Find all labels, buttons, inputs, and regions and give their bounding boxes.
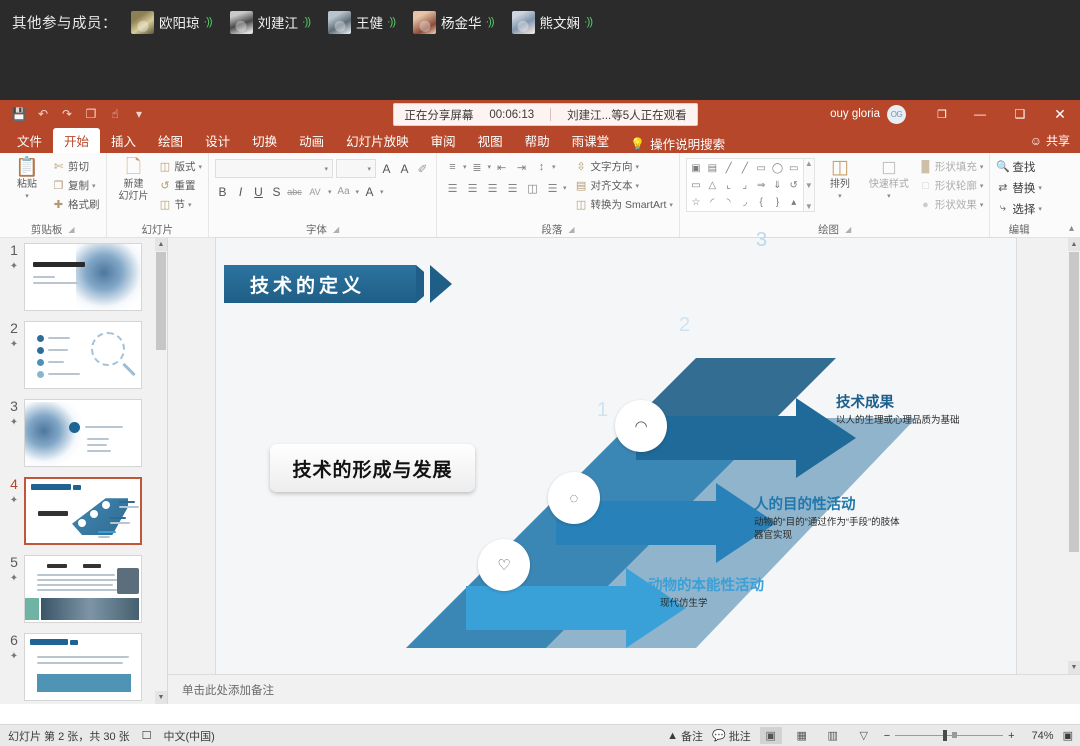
replace-button[interactable]: ⇄ 替换 ▾ xyxy=(996,179,1042,196)
copy-button[interactable]: ❐ 复制 ▾ xyxy=(52,177,100,194)
target-icon-circle[interactable]: ◌ xyxy=(548,472,600,524)
tab-home[interactable]: 开始 xyxy=(53,128,100,153)
character-spacing-button[interactable]: AV xyxy=(305,187,325,197)
thumbnail-slide-1[interactable]: 1 ✦ xyxy=(0,238,167,316)
thumb-text-line xyxy=(87,450,111,452)
window-title-bar: 💾 ↶ ↷ ❐ ☝ ▾ 正在分享屏幕 00:06:13 刘建江...等5人正在观… xyxy=(0,100,1080,128)
center-text-box[interactable]: 技术的形成与发展 xyxy=(270,444,475,492)
chevron-down-icon: ▾ xyxy=(325,165,329,173)
align-center-button[interactable]: ☰ xyxy=(463,179,482,197)
scroll-down-icon[interactable]: ▼ xyxy=(805,181,813,190)
cursor-icon: ⤷ xyxy=(996,202,1009,215)
chevron-down-icon: ▾ xyxy=(980,163,984,171)
arrange-icon: ◫ xyxy=(831,158,849,178)
copy-icon: ❐ xyxy=(52,179,65,192)
thumb-text-line xyxy=(83,564,101,568)
clear-formatting-button[interactable]: ✐ xyxy=(415,162,430,176)
shape-effects-button[interactable]: ● 形状效果 ▾ xyxy=(919,196,984,213)
shape-item[interactable]: ↺ xyxy=(786,177,802,194)
zoom-out-button[interactable]: − xyxy=(884,730,890,742)
tell-me-label: 操作说明搜索 xyxy=(650,134,725,153)
italic-button[interactable]: I xyxy=(233,185,248,199)
bullets-button[interactable]: ≡ xyxy=(443,158,462,176)
step-label-2[interactable]: 人的目的性活动 动物的“目的”通过作为“手段”的肢体 器官实现 xyxy=(754,493,900,542)
bold-button[interactable]: B xyxy=(215,185,230,199)
participant-name: 杨金华 xyxy=(441,12,482,32)
minimize-button[interactable]: — xyxy=(960,100,1000,128)
shape-item[interactable]: ◝ xyxy=(720,194,736,211)
animation-star-icon: ✦ xyxy=(4,571,24,586)
replace-icon: ⇄ xyxy=(996,181,1009,194)
chevron-down-icon: ▾ xyxy=(1038,205,1042,213)
scissors-icon: ✄ xyxy=(52,160,65,173)
thumbnail-scrollbar[interactable]: ▲ ▼ xyxy=(155,238,167,704)
step-number-3: 3 xyxy=(756,229,767,252)
format-painter-button[interactable]: ✚ 格式刷 xyxy=(52,196,100,213)
chevron-down-icon: ▾ xyxy=(636,163,640,171)
tab-file[interactable]: 文件 xyxy=(6,128,53,153)
shape-item[interactable]: ◯ xyxy=(769,160,785,177)
font-color-button[interactable]: A xyxy=(362,185,377,199)
thumbnail-index: 4 xyxy=(10,476,18,492)
avatar xyxy=(512,11,535,34)
participant-name: 刘建江 xyxy=(258,12,299,32)
numbering-button[interactable]: ≣ xyxy=(468,158,487,176)
step-subtitle-2-line1: 动物的“目的”通过作为“手段”的肢体 xyxy=(754,516,900,529)
columns-button[interactable]: ◫ xyxy=(523,179,542,197)
thumbnail-slide-2[interactable]: 2 ✦ xyxy=(0,316,167,394)
group-title-slides: 幻灯片 xyxy=(142,222,174,237)
select-button[interactable]: ⤷ 选择 ▾ xyxy=(996,200,1042,217)
step-title-2: 人的目的性活动 xyxy=(754,493,900,514)
slideshow-view-button[interactable]: ▽ xyxy=(853,727,875,744)
ribbon-group-font: ▾ ▾ A A ✐ B I U S abc AV xyxy=(208,153,436,237)
arrange-label: 排列 xyxy=(830,179,850,190)
group-title-clipboard: 剪贴板 xyxy=(31,222,63,237)
meeting-participants-bar: 其他参与成员： 欧阳琼 ·)) 刘建江 ·)) 王健 ·)) 杨金华 ·)) 熊… xyxy=(0,0,1080,100)
share-button[interactable]: ☺ 共享 xyxy=(1030,132,1070,149)
layout-icon: ◫ xyxy=(159,160,172,173)
underline-button[interactable]: U xyxy=(251,185,266,199)
section-label: 节 xyxy=(175,197,186,212)
chevron-down-icon: ▾ xyxy=(980,201,984,209)
workspace: 1 ✦ 2 ✦ xyxy=(0,238,1080,704)
tab-review[interactable]: 审阅 xyxy=(420,128,467,153)
ribbon-tab-bar: 文件 开始 插入 绘图 设计 切换 动画 幻灯片放映 审阅 视图 帮助 雨课堂 … xyxy=(0,128,1080,153)
thumbnail-slide-5[interactable]: 5 ✦ xyxy=(0,550,167,628)
shape-outline-icon: □ xyxy=(919,180,932,192)
thumbnail-number: 1 ✦ xyxy=(4,243,24,274)
participant-item[interactable]: 熊文娴 ·)) xyxy=(512,11,593,34)
zoom-level-label[interactable]: 74% xyxy=(1024,730,1054,742)
thumbnail-index: 6 xyxy=(10,632,18,648)
zoom-slider[interactable]: − + xyxy=(884,730,1015,742)
shapes-gallery-scrollbar[interactable]: ▲ ▼ ▼ xyxy=(804,158,815,212)
participant-name: 熊文娴 xyxy=(540,12,581,32)
justify-button[interactable]: ☰ xyxy=(503,179,522,197)
user-name[interactable]: ouy gloria xyxy=(830,108,880,120)
comments-label: 批注 xyxy=(729,728,751,744)
fit-slide-to-window-icon[interactable]: ▣ xyxy=(1063,729,1073,742)
change-case-button[interactable]: Aa xyxy=(335,186,353,197)
thumb-text-line xyxy=(48,337,70,339)
shape-item[interactable]: ⇒ xyxy=(753,177,769,194)
arrange-button[interactable]: ◫ 排列 ▾ xyxy=(819,158,861,202)
chevron-down-icon: ▾ xyxy=(356,188,360,196)
accessibility-check-icon[interactable]: ☐ xyxy=(142,729,152,742)
thumb-photo-strip xyxy=(41,598,139,620)
scroll-up-icon[interactable]: ▲ xyxy=(155,238,167,251)
zoom-track[interactable] xyxy=(895,735,1003,736)
new-slide-button[interactable]: 🗋 新建 幻灯片 xyxy=(113,158,155,202)
shape-outline-label: 形状轮廓 xyxy=(935,178,977,193)
shape-item[interactable]: ◞ xyxy=(737,194,753,211)
shape-effects-icon: ● xyxy=(919,199,932,211)
step-number-2: 2 xyxy=(679,314,690,337)
animation-star-icon: ✦ xyxy=(4,337,24,352)
paste-icon: 📋 xyxy=(15,158,39,178)
thumb-text-line xyxy=(87,438,109,440)
thumb-photo xyxy=(117,568,139,594)
group-title-font: 字体 xyxy=(306,222,327,237)
thumbnail-number: 6 ✦ xyxy=(4,633,24,664)
tab-view[interactable]: 视图 xyxy=(467,128,514,153)
chevron-down-icon: ▾ xyxy=(188,201,192,209)
slide-sorter-view-button[interactable]: ▦ xyxy=(791,727,813,744)
shape-item[interactable]: ▭ xyxy=(688,177,704,194)
scroll-up-icon[interactable]: ▲ xyxy=(805,159,813,168)
increase-indent-button[interactable]: ⇥ xyxy=(512,158,531,176)
avatar xyxy=(131,11,154,34)
grow-font-button[interactable]: A xyxy=(379,162,394,176)
share-status-text: 正在分享屏幕 xyxy=(404,107,473,123)
thumbnail-slide-4[interactable]: 4 ✦ xyxy=(0,472,167,550)
audio-wave-icon: ·)) xyxy=(302,17,310,28)
decorative-splash xyxy=(76,243,142,311)
cloud-icon: ◠ xyxy=(634,417,647,435)
ribbon-home: 📋 粘贴 ▾ ✄ 剪切 ❐ 复制 ▾ ✚ 格 xyxy=(0,153,1080,238)
chevron-down-icon: ▾ xyxy=(1038,184,1042,192)
tab-animations[interactable]: 动画 xyxy=(288,128,335,153)
scroll-down-icon[interactable]: ▼ xyxy=(155,691,167,704)
slide-canvas[interactable]: 技术的定义 xyxy=(216,238,1016,688)
replace-label: 替换 xyxy=(1012,180,1035,196)
shape-item[interactable]: ╱ xyxy=(720,160,736,177)
tab-transitions[interactable]: 切换 xyxy=(241,128,288,153)
quick-styles-button[interactable]: ◻ 快速样式 ▾ xyxy=(865,158,913,202)
shape-item[interactable]: ◜ xyxy=(704,194,720,211)
thumbnail-number: 3 ✦ xyxy=(4,399,24,430)
shapes-gallery[interactable]: ▣ ▤ ╱ ╱ ▭ ◯ ▭ ▭ △ ⌞ ⌟ ⇒ ⇓ ↺ ☆ xyxy=(686,158,804,212)
ribbon-display-options-icon[interactable]: ❐ xyxy=(924,100,960,128)
heart-icon-circle[interactable]: ♡ xyxy=(478,539,530,591)
thumb-title-banner xyxy=(31,484,71,490)
font-size-input[interactable]: ▾ xyxy=(336,159,376,178)
thumbnail-slide-3[interactable]: 3 ✦ xyxy=(0,394,167,472)
dialog-launcher-icon[interactable]: ◢ xyxy=(568,225,574,234)
thumbnail-index: 1 xyxy=(10,242,18,258)
chevron-down-icon: ▾ xyxy=(887,191,891,202)
participant-item[interactable]: 刘建江 ·)) xyxy=(230,11,311,34)
comment-bubble-icon: 💬 xyxy=(712,729,726,742)
save-button[interactable]: 💾 xyxy=(8,104,30,124)
comments-button[interactable]: 💬 批注 xyxy=(712,728,751,744)
group-title-paragraph: 段落 xyxy=(541,222,562,237)
paste-button[interactable]: 📋 粘贴 ▾ xyxy=(6,158,48,202)
chevron-down-icon: ▾ xyxy=(669,201,673,209)
group-title-editing: 编辑 xyxy=(1009,222,1030,237)
step-label-3[interactable]: 技术成果 以人的生理或心理品质为基础 xyxy=(836,391,960,427)
shape-item[interactable]: ▤ xyxy=(704,160,720,177)
paste-label: 粘贴 xyxy=(17,179,37,190)
chevron-down-icon: ▾ xyxy=(980,182,984,190)
audio-wave-icon: ·)) xyxy=(584,17,592,28)
thumbnail-preview[interactable] xyxy=(24,633,142,701)
section-button[interactable]: ◫ 节 ▾ xyxy=(159,196,203,213)
zoom-knob[interactable] xyxy=(943,730,947,741)
thumb-bullet xyxy=(37,347,44,354)
find-label: 查找 xyxy=(1012,159,1035,175)
shape-effects-label: 形状效果 xyxy=(935,197,977,212)
chevron-down-icon: ▾ xyxy=(328,188,332,196)
font-name-input[interactable]: ▾ xyxy=(215,159,333,178)
collapse-ribbon-icon[interactable]: ▴ xyxy=(1069,223,1074,234)
divider xyxy=(550,108,551,121)
layout-button[interactable]: ◫ 版式 ▾ xyxy=(159,158,203,175)
thumbnail-index: 3 xyxy=(10,398,18,414)
shape-item[interactable]: ⌟ xyxy=(737,177,753,194)
screen-share-banner[interactable]: 正在分享屏幕 00:06:13 刘建江...等5人正在观看 xyxy=(393,103,698,126)
thumb-text-line xyxy=(33,282,79,284)
thumb-circle-diagram xyxy=(91,332,125,366)
slide-count-label[interactable]: 幻灯片 第 2 张，共 30 张 xyxy=(8,728,130,744)
step-title-1: 动物的本能性活动 xyxy=(648,574,764,595)
convert-to-smartart-button[interactable]: ◫ 转换为 SmartArt ▾ xyxy=(575,196,673,213)
text-alignment-button[interactable]: ☰ xyxy=(543,179,562,197)
dialog-launcher-icon[interactable]: ◢ xyxy=(68,225,74,234)
chevron-down-icon: ▾ xyxy=(463,163,467,171)
step-title-3: 技术成果 xyxy=(836,391,960,412)
thumb-bullet xyxy=(69,422,80,433)
close-button[interactable]: ✕ xyxy=(1040,100,1080,128)
zoom-in-button[interactable]: + xyxy=(1008,730,1014,742)
thumb-text-line xyxy=(98,536,110,538)
shape-item[interactable]: ⇓ xyxy=(769,177,785,194)
notes-pane[interactable]: 单击此处添加备注 xyxy=(168,674,1080,704)
tab-help[interactable]: 帮助 xyxy=(514,128,561,153)
thumbnail-preview-selected[interactable] xyxy=(24,477,142,545)
tab-rain-classroom[interactable]: 雨课堂 xyxy=(561,128,621,153)
thumb-title-banner xyxy=(30,639,68,645)
slide-editor-pane[interactable]: 技术的定义 xyxy=(168,238,1080,704)
chevron-down-icon: ▾ xyxy=(92,182,96,190)
chevron-down-icon: ▾ xyxy=(25,191,29,202)
share-label: 共享 xyxy=(1046,132,1070,149)
dialog-launcher-icon[interactable]: ◢ xyxy=(333,225,339,234)
ribbon-group-editing: 🔍 查找 ⇄ 替换 ▾ ⤷ 选择 ▾ 编辑 xyxy=(989,153,1048,237)
animation-star-icon: ✦ xyxy=(4,493,24,508)
section-icon: ◫ xyxy=(159,198,172,211)
participant-item[interactable]: 杨金华 ·)) xyxy=(413,11,494,34)
shape-outline-button[interactable]: □ 形状轮廓 ▾ xyxy=(919,177,984,194)
chevron-down-icon: ▾ xyxy=(552,163,556,171)
align-left-button[interactable]: ☰ xyxy=(443,179,462,197)
animation-star-icon: ✦ xyxy=(4,259,24,274)
step-subtitle-2-line2: 器官实现 xyxy=(754,529,900,542)
participants-label: 其他参与成员： xyxy=(12,12,117,33)
notes-placeholder: 单击此处添加备注 xyxy=(182,682,274,698)
thumbnail-preview[interactable] xyxy=(24,399,142,467)
ribbon-group-clipboard: 📋 粘贴 ▾ ✄ 剪切 ❐ 复制 ▾ ✚ 格 xyxy=(0,153,106,237)
thumb-accent-block xyxy=(25,598,39,620)
start-slideshow-button[interactable]: ❐ xyxy=(80,104,102,124)
thumb-text-line xyxy=(48,349,68,351)
chevron-down-icon: ▾ xyxy=(368,165,372,173)
zoom-midpoint xyxy=(952,732,957,738)
chevron-down-icon: ▾ xyxy=(199,163,203,171)
scrollbar-thumb[interactable] xyxy=(156,252,166,350)
step-label-1[interactable]: 动物的本能性活动 现代仿生学 xyxy=(648,574,764,610)
reset-button[interactable]: ↺ 重置 xyxy=(159,177,203,194)
copy-label: 复制 xyxy=(68,178,89,193)
quick-styles-label: 快速样式 xyxy=(869,179,909,190)
thumbnail-preview[interactable] xyxy=(24,243,142,311)
shape-item[interactable]: ▴ xyxy=(786,194,802,211)
normal-view-button[interactable]: ▣ xyxy=(760,727,782,744)
thumb-text-line xyxy=(119,506,139,508)
thumbnail-preview[interactable] xyxy=(24,555,142,623)
thumbnail-index: 5 xyxy=(10,554,18,570)
status-bar: 幻灯片 第 2 张，共 30 张 ☐ 中文(中国) ▲ 备注 💬 批注 ▣ ▦ … xyxy=(0,724,1080,746)
shape-item[interactable]: ▭ xyxy=(786,160,802,177)
avatar xyxy=(328,11,351,34)
find-button[interactable]: 🔍 查找 xyxy=(996,158,1042,175)
tab-draw[interactable]: 绘图 xyxy=(147,128,194,153)
thumb-text-line xyxy=(37,574,115,576)
language-label[interactable]: 中文(中国) xyxy=(164,728,215,744)
step-number-1: 1 xyxy=(597,399,608,422)
group-title-drawing: 绘图 xyxy=(818,222,839,237)
redo-button[interactable]: ↷ xyxy=(56,104,78,124)
thumb-circle xyxy=(78,519,86,527)
restore-button[interactable]: ❑ xyxy=(1000,100,1040,128)
thumb-text-line xyxy=(33,276,55,278)
animation-star-icon: ✦ xyxy=(4,649,24,664)
format-painter-label: 格式刷 xyxy=(68,197,100,212)
tab-design[interactable]: 设计 xyxy=(194,128,241,153)
thumbnail-preview[interactable] xyxy=(24,321,142,389)
notes-button[interactable]: ▲ 备注 xyxy=(667,728,703,744)
slide-scrollbar[interactable]: ▲ ▼ xyxy=(1068,238,1080,674)
heart-icon: ♡ xyxy=(497,556,510,574)
shape-item[interactable]: ▭ xyxy=(753,160,769,177)
smartart-icon: ◫ xyxy=(575,198,588,211)
thumbnail-number: 5 ✦ xyxy=(4,555,24,586)
step-subtitle-1: 现代仿生学 xyxy=(660,597,764,610)
shape-fill-button[interactable]: █ 形状填充 ▾ xyxy=(919,158,984,175)
thumb-magnifier-handle xyxy=(122,363,135,376)
quick-access-toolbar: 💾 ↶ ↷ ❐ ☝ ▾ xyxy=(0,104,150,124)
smartart-label: 转换为 SmartArt xyxy=(591,197,667,212)
thumb-text-line xyxy=(87,444,107,446)
thumb-text-line xyxy=(98,531,116,533)
chevron-down-icon: ▾ xyxy=(838,191,842,202)
thumbnail-slide-6[interactable]: 6 ✦ xyxy=(0,628,167,704)
thumbnail-number: 4 ✦ xyxy=(4,477,24,508)
search-icon: 🔍 xyxy=(996,160,1009,173)
thumb-text-line xyxy=(110,517,126,519)
layout-label: 版式 xyxy=(175,159,196,174)
cloud-icon-circle[interactable]: ◠ xyxy=(615,400,667,452)
touch-mode-button[interactable]: ☝ xyxy=(104,104,126,124)
shape-item[interactable]: ☆ xyxy=(688,194,704,211)
slide-thumbnail-pane[interactable]: 1 ✦ 2 ✦ xyxy=(0,238,168,704)
scrollbar-thumb[interactable] xyxy=(1069,252,1079,552)
target-icon: ◌ xyxy=(570,490,579,507)
animation-star-icon: ✦ xyxy=(4,415,24,430)
tell-me-search[interactable]: 💡 操作说明搜索 xyxy=(620,134,725,153)
align-text-button[interactable]: ▤ 对齐文本 ▾ xyxy=(575,177,673,194)
thumb-chevron xyxy=(70,640,78,645)
person-share-icon: ☺ xyxy=(1030,134,1042,148)
thumb-text-line xyxy=(37,584,113,586)
audio-wave-icon: ·)) xyxy=(486,17,494,28)
cut-label: 剪切 xyxy=(68,159,89,174)
cut-button[interactable]: ✄ 剪切 xyxy=(52,158,100,175)
align-right-button[interactable]: ☰ xyxy=(483,179,502,197)
line-spacing-button[interactable]: ↕ xyxy=(532,158,551,176)
shrink-font-button[interactable]: A xyxy=(397,162,412,176)
shape-fill-label: 形状填充 xyxy=(935,159,977,174)
shape-item[interactable]: } xyxy=(769,194,785,211)
thumb-bullet xyxy=(37,371,44,378)
shape-item[interactable]: ▣ xyxy=(688,160,704,177)
paintbrush-icon: ✚ xyxy=(52,198,65,211)
more-shapes-icon[interactable]: ▼ xyxy=(805,202,813,211)
shape-item[interactable]: { xyxy=(753,194,769,211)
shape-item[interactable]: △ xyxy=(704,177,720,194)
scroll-down-icon[interactable]: ▼ xyxy=(1068,661,1080,674)
strikethrough-button[interactable]: abc xyxy=(287,187,302,197)
participant-item[interactable]: 王健 ·)) xyxy=(328,11,395,34)
dialog-launcher-icon[interactable]: ◢ xyxy=(845,225,851,234)
thumb-text-line xyxy=(37,656,129,658)
decrease-indent-button[interactable]: ⇤ xyxy=(492,158,511,176)
step-subtitle-3: 以人的生理或心理品质为基础 xyxy=(836,414,960,427)
thumb-circle xyxy=(90,510,98,518)
participant-item[interactable]: 欧阳琼 ·)) xyxy=(131,11,212,34)
avatar[interactable]: OG xyxy=(887,105,906,124)
thumb-text-line xyxy=(37,579,119,581)
tab-slideshow[interactable]: 幻灯片放映 xyxy=(335,128,420,153)
reading-view-button[interactable]: ▥ xyxy=(822,727,844,744)
thumb-text-line xyxy=(119,501,135,503)
share-elapsed-time: 00:06:13 xyxy=(489,109,534,121)
qat-dropdown-button[interactable]: ▾ xyxy=(128,104,150,124)
chevron-down-icon: ▾ xyxy=(636,182,640,190)
undo-button[interactable]: ↶ xyxy=(32,104,54,124)
shape-item[interactable]: ⌞ xyxy=(720,177,736,194)
thumb-text-line xyxy=(47,564,67,568)
align-text-icon: ▤ xyxy=(575,179,588,192)
scroll-up-icon[interactable]: ▲ xyxy=(1068,238,1080,251)
avatar xyxy=(230,11,253,34)
text-shadow-button[interactable]: S xyxy=(269,185,284,199)
tab-insert[interactable]: 插入 xyxy=(100,128,147,153)
reset-label: 重置 xyxy=(175,178,196,193)
text-direction-button[interactable]: ⇳ 文字方向 ▾ xyxy=(575,158,673,175)
shape-item[interactable]: ╱ xyxy=(737,160,753,177)
